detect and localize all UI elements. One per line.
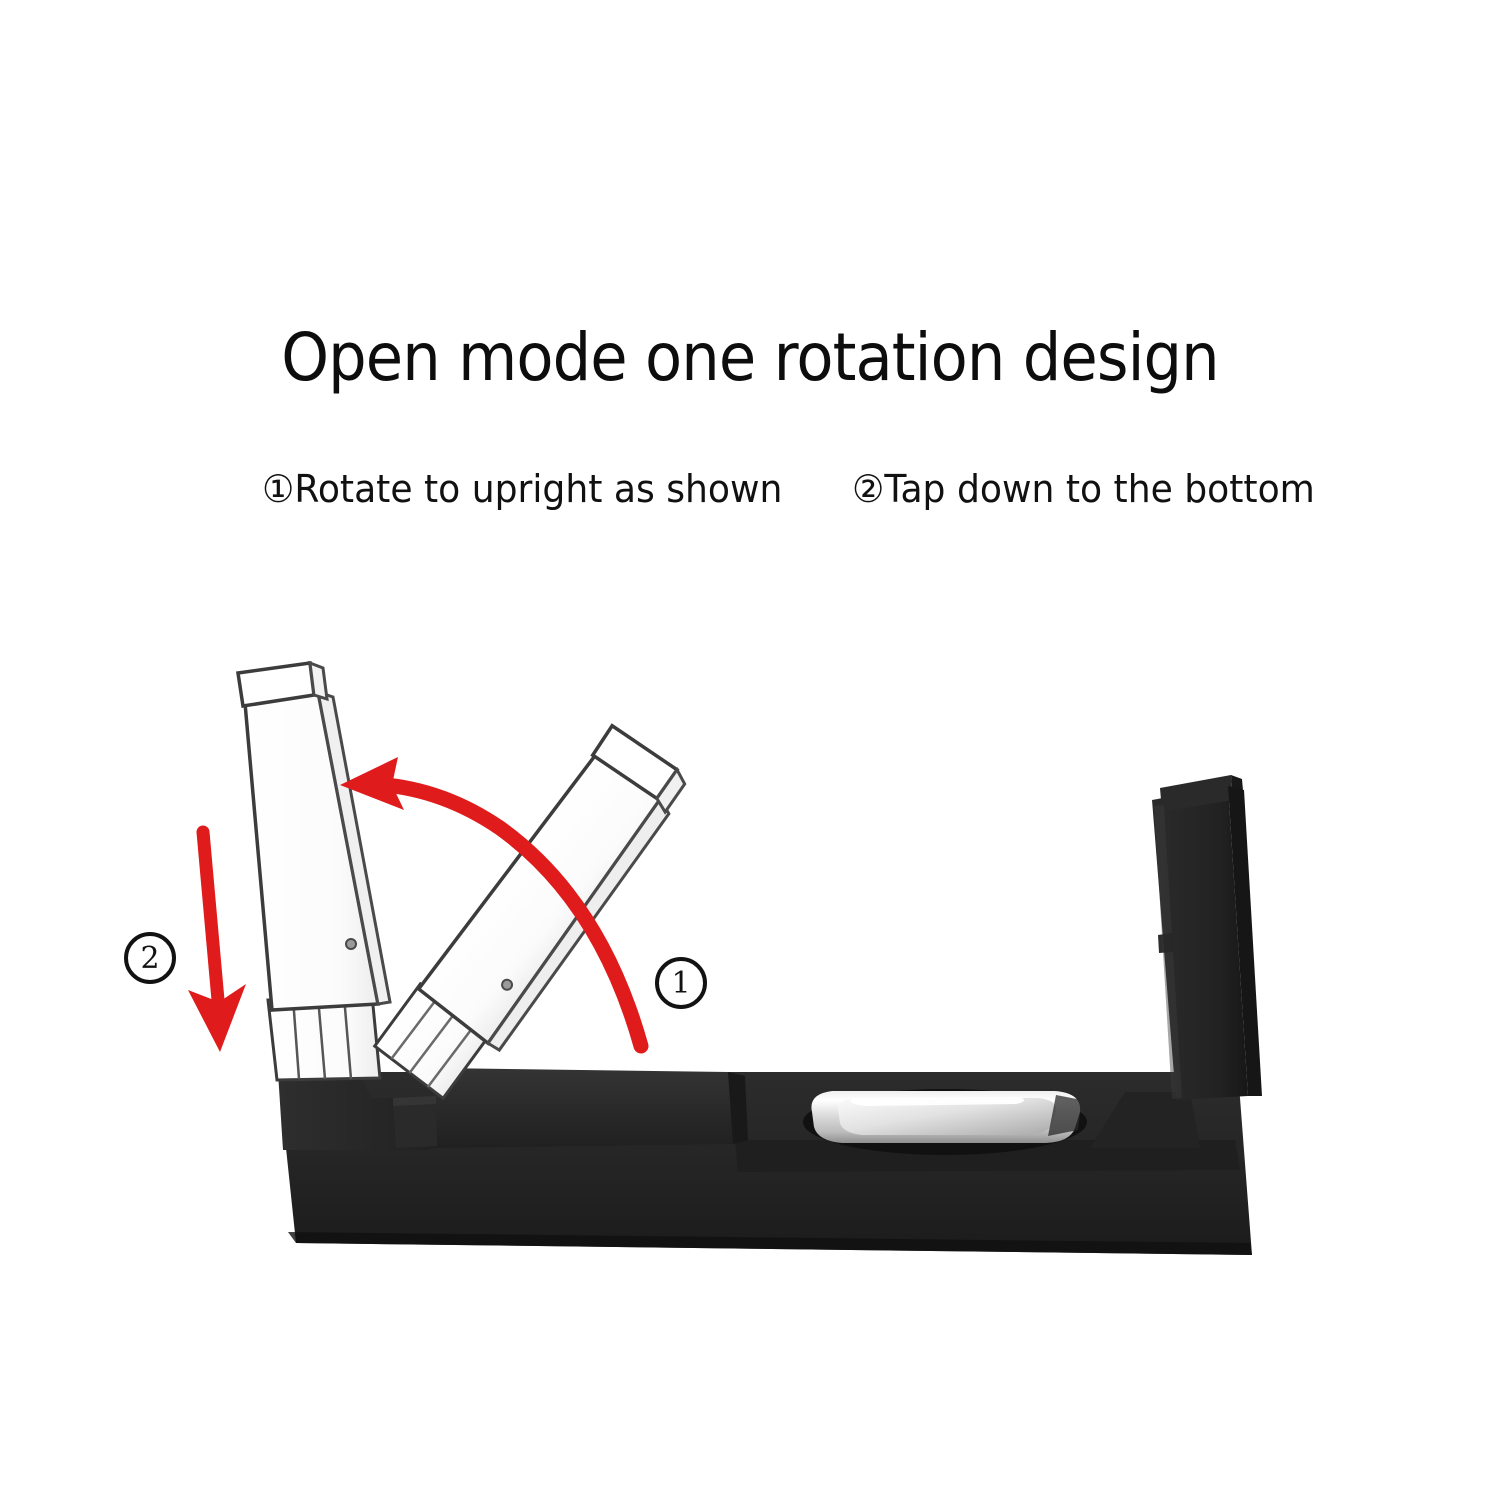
press-down-arrow: [188, 832, 246, 1052]
upright-arm-pivot-dot: [346, 939, 356, 949]
base-body: [278, 1068, 1252, 1255]
press-down-arrow-shaft: [203, 832, 218, 1000]
step-marker-1-label: 1: [671, 966, 690, 1001]
step-marker-2: 2: [124, 932, 176, 984]
page-root: Open mode one rotation design ①Rotate to…: [0, 0, 1500, 1500]
tilted-arm: [356, 720, 710, 1109]
folding-stand-rotation-diagram: [0, 0, 1500, 1500]
step-marker-2-label: 2: [140, 941, 159, 976]
metal-disc: [803, 1089, 1087, 1155]
lid-top-face: [430, 1068, 733, 1148]
step-marker-1: 1: [655, 957, 707, 1009]
upright-arm: [238, 663, 390, 1080]
upright-arm-cap-edge: [310, 663, 327, 699]
